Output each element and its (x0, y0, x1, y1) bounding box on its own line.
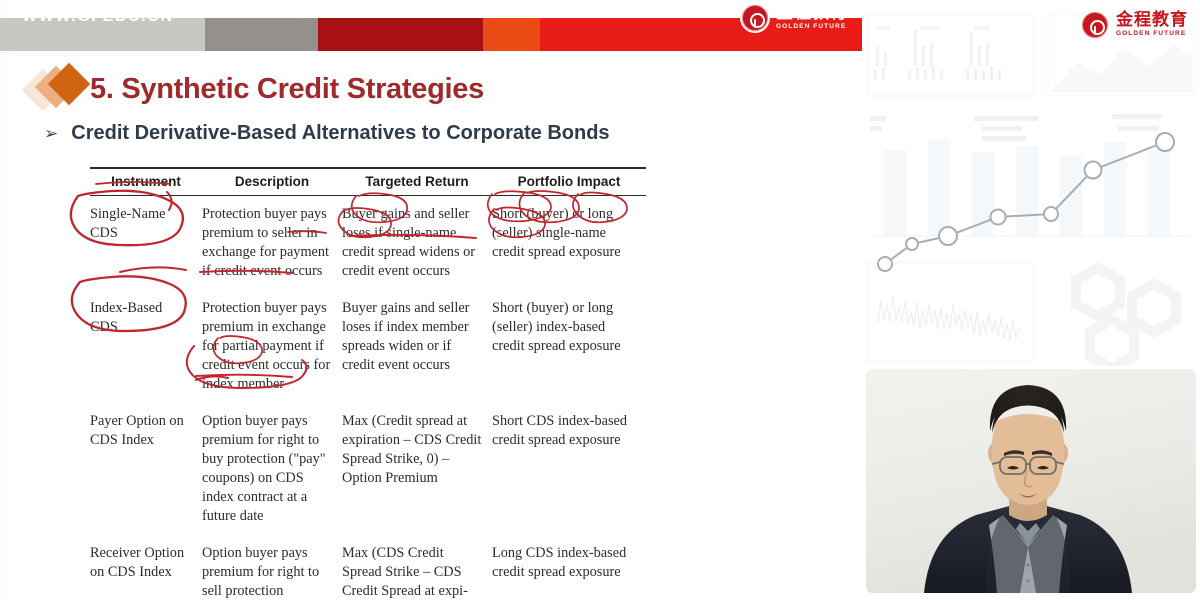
cell-targeted-return: Buyer gains and seller loses if index me… (342, 290, 492, 403)
banner-logo: 金程教育 GOLDEN FUTURE (740, 3, 848, 33)
cell-targeted-return: Max (CDS Credit Spread Strike – CDS Cred… (342, 535, 492, 600)
section-heading: Credit Derivative-Based Alternatives to … (71, 122, 609, 145)
website-url: WWW.GFEDU.CN (22, 0, 174, 33)
logo-chinese-text: 金程教育 (776, 5, 848, 22)
decorative-graphics (862, 0, 1200, 366)
cell-portfolio-impact: Short (buyer) or long (seller) index-bas… (492, 290, 646, 403)
cell-description: Option buyer pays premium for right to s… (202, 535, 342, 600)
cell-portfolio-impact: Short (buyer) or long (seller) single-na… (492, 196, 646, 290)
screen: WWW.GFEDU.CN 金程教育 GOLDEN FUTURE 5. Synth… (0, 0, 1200, 600)
banner-segment-dark-red (318, 18, 483, 51)
webcam-frame (866, 369, 1196, 593)
table-row: Index-Based CDS Protection buyer pays pr… (90, 290, 646, 403)
table-row: Receiver Option on CDS Index Option buye… (90, 535, 646, 600)
table-row: Single-Name CDS Protection buyer pays pr… (90, 196, 646, 290)
cell-targeted-return: Max (Credit spread at expiration – CDS C… (342, 403, 492, 535)
logo-english-text: GOLDEN FUTURE (1116, 31, 1188, 38)
column-header-portfolio-impact: Portfolio Impact (492, 169, 646, 195)
cell-portfolio-impact: Short CDS index-based credit spread expo… (492, 403, 646, 535)
logo-english-text: GOLDEN FUTURE (776, 24, 848, 31)
arrow-bullet-icon: ➢ (44, 125, 58, 142)
column-header-description: Description (202, 169, 342, 195)
table-header-row: Instrument Description Targeted Return P… (90, 169, 646, 195)
cell-description: Protection buyer pays premium to seller … (202, 196, 342, 290)
column-header-instrument: Instrument (90, 169, 202, 195)
golden-future-seal-icon (740, 3, 770, 33)
banner-segment-orange (483, 18, 540, 51)
cds-comparison-table: Instrument Description Targeted Return P… (90, 167, 646, 600)
logo-chinese-text: 金程教育 (1116, 12, 1188, 29)
diamond-decoration-icon (28, 66, 90, 112)
cell-instrument: Single-Name CDS (90, 196, 202, 290)
cell-instrument: Index-Based CDS (90, 290, 202, 403)
column-header-targeted-return: Targeted Return (342, 169, 492, 195)
instructor-webcam-video[interactable] (866, 369, 1196, 593)
cell-targeted-return: Buyer gains and seller loses if single-n… (342, 196, 492, 290)
right-panel-logo: 金程教育 GOLDEN FUTURE (1080, 10, 1188, 40)
cell-description: Protection buyer pays premium in exchang… (202, 290, 342, 403)
cell-instrument: Receiver Option on CDS Index (90, 535, 202, 600)
table-row: Payer Option on CDS Index Option buyer p… (90, 403, 646, 535)
page-title: 5. Synthetic Credit Strategies (90, 73, 484, 106)
cell-portfolio-impact: Long CDS index-based credit spread expos… (492, 535, 646, 600)
slide-title-row: 5. Synthetic Credit Strategies (28, 66, 484, 112)
golden-future-seal-icon (1080, 10, 1110, 40)
cell-instrument: Payer Option on CDS Index (90, 403, 202, 535)
slide-subtitle-row: ➢ Credit Derivative-Based Alternatives t… (44, 122, 610, 145)
presentation-slide: WWW.GFEDU.CN 金程教育 GOLDEN FUTURE 5. Synth… (0, 0, 862, 600)
cell-description: Option buyer pays premium for right to b… (202, 403, 342, 535)
banner-segment-medium-gray (205, 18, 318, 51)
